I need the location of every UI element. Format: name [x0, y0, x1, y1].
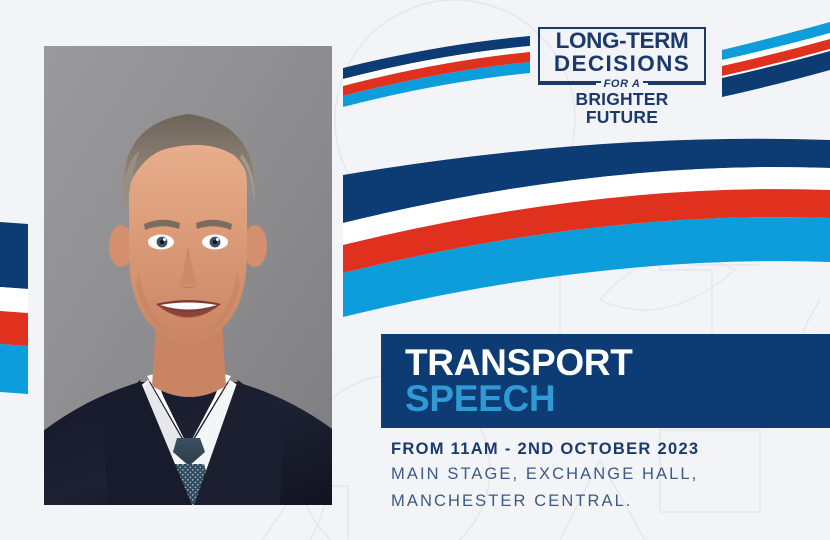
- logo-line-brighter-future: BRIGHTER FUTURE: [538, 90, 706, 126]
- event-venue-line-1: MAIN STAGE, EXCHANGE HALL,: [391, 461, 821, 488]
- speaker-portrait: [44, 46, 332, 505]
- headline-transport: TRANSPORT: [405, 343, 633, 383]
- poster-canvas: LONG-TERM DECISIONS FOR A BRIGHTER FUTUR…: [0, 0, 830, 540]
- event-details: FROM 11AM - 2ND OCTOBER 2023 MAIN STAGE,…: [391, 437, 821, 515]
- logo-line-decisions: DECISIONS: [538, 52, 706, 76]
- campaign-logo: LONG-TERM DECISIONS FOR A BRIGHTER FUTUR…: [538, 27, 706, 107]
- event-time-date: FROM 11AM - 2ND OCTOBER 2023: [391, 437, 821, 461]
- event-venue-line-2: MANCHESTER CENTRAL.: [391, 488, 821, 515]
- headline-speech: SPEECH: [405, 379, 555, 419]
- headline-panel: TRANSPORT SPEECH: [381, 334, 830, 428]
- portrait-illustration: [44, 46, 332, 505]
- logo-line-long-term: LONG-TERM: [538, 29, 706, 53]
- logo-for-a-text: FOR A: [601, 78, 644, 90]
